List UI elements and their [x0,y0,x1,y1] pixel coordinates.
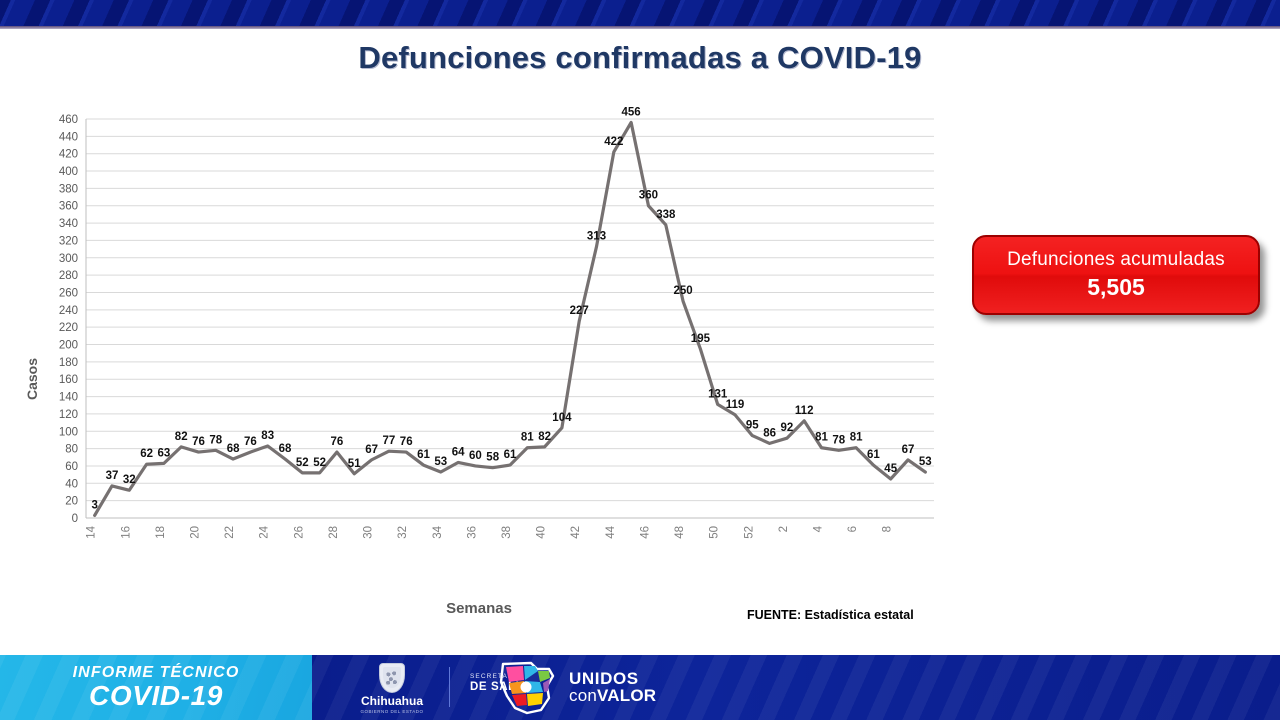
x-axis-tick-label: 48 [674,526,686,539]
chihuahua-logo-subtitle: GOBIERNO DEL ESTADO [360,709,423,714]
y-axis-tick-label: 40 [65,478,78,490]
data-point-label: 83 [261,430,274,442]
x-axis-tick-label: 4 [813,525,825,532]
footer-report-badge: INFORME TÉCNICO COVID-19 [0,655,312,720]
data-point-label: 60 [469,450,482,462]
data-point-label: 61 [867,449,880,461]
x-axis-tick-label: 16 [120,526,132,539]
data-point-label: 81 [850,432,863,444]
chihuahua-map-icon [497,660,559,716]
y-axis-tick-label: 140 [59,392,78,404]
data-point-label: 81 [815,432,828,444]
x-axis-tick-label: 8 [882,526,894,532]
data-point-label: 250 [674,285,693,297]
data-point-label: 195 [691,333,711,345]
y-axis-tick-label: 20 [65,496,78,508]
y-axis-tick-label: 0 [72,513,78,525]
y-axis-tick-label: 420 [59,149,78,161]
callout-label: Defunciones acumuladas [1007,249,1225,271]
y-axis-tick-label: 300 [59,253,78,265]
data-point-label: 81 [521,432,534,444]
x-axis-tick-label: 30 [363,526,375,539]
data-point-label: 227 [570,305,589,317]
data-point-label: 92 [781,422,794,434]
data-point-label: 51 [348,458,361,470]
x-axis-tick-label: 28 [328,526,340,539]
unidos-con: con [569,686,597,705]
data-point-label: 32 [123,474,136,486]
data-point-label: 112 [795,405,814,417]
y-axis-tick-label: 120 [59,409,78,421]
x-axis-tick-label: 20 [190,526,202,539]
data-point-label: 68 [279,443,292,455]
y-axis-tick-label: 380 [59,183,78,195]
x-axis-tick-label: 2 [778,526,790,532]
y-axis-tick-label: 340 [59,218,78,230]
data-point-label: 76 [400,436,413,448]
footer-report-line2: COVID-19 [89,681,223,710]
data-point-label: 456 [622,107,641,119]
data-point-label: 53 [919,456,932,468]
x-axis-tick-label: 38 [501,526,513,539]
x-axis-tick-label: 42 [570,526,582,539]
cumulative-deaths-callout: Defunciones acumuladas 5,505 [972,235,1260,315]
data-point-label: 95 [746,420,759,432]
y-axis-tick-label: 260 [59,287,78,299]
data-point-label: 53 [434,456,447,468]
y-axis-tick-label: 220 [59,322,78,334]
callout-value: 5,505 [1087,274,1145,301]
data-point-label: 37 [106,470,119,482]
data-point-label: 58 [486,452,499,464]
page-title: Defunciones confirmadas a COVID-19 [0,40,1280,76]
data-point-label: 422 [604,136,623,148]
data-point-label: 52 [313,457,326,469]
y-axis-tick-label: 460 [59,114,78,126]
x-axis-tick-label: 32 [397,526,409,539]
data-point-label: 338 [656,209,676,221]
data-point-label: 86 [763,427,776,439]
data-point-label: 360 [639,190,658,202]
x-axis-tick-label: 14 [86,525,98,538]
x-axis-tick-label: 52 [743,526,755,539]
y-axis-tick-label: 240 [59,305,78,317]
chihuahua-government-logo: Chihuahua GOBIERNO DEL ESTADO [354,660,430,716]
top-banner-stripes [0,0,1280,26]
data-point-label: 68 [227,443,240,455]
chihuahua-logo-name: Chihuahua [361,695,423,707]
y-axis-tick-label: 80 [65,444,78,456]
data-point-label: 76 [192,436,205,448]
data-point-label: 62 [140,448,153,460]
data-point-label: 76 [331,436,344,448]
data-point-label: 313 [587,231,606,243]
data-point-label: 64 [452,447,465,459]
data-point-label: 104 [552,412,572,424]
data-point-label: 78 [832,434,845,446]
unidos-text-block: UNIDOS conVALOR [569,670,656,705]
x-axis-tick-label: 36 [466,526,478,539]
data-point-label: 67 [365,444,378,456]
y-axis-tick-label: 200 [59,340,78,352]
x-axis-tick-label: 50 [709,526,721,539]
data-point-label: 61 [417,449,430,461]
x-axis-tick-label: 34 [432,525,444,538]
footer-logos-panel: Chihuahua GOBIERNO DEL ESTADO SECRETARÍA… [312,655,1280,720]
data-point-label: 52 [296,457,309,469]
y-axis-tick-label: 60 [65,461,78,473]
y-axis-tick-label: 160 [59,374,78,386]
x-axis-tick-label: 44 [605,525,617,538]
unidos-valor: VALOR [597,686,656,705]
data-point-label: 45 [884,463,897,475]
y-axis-tick-label: 360 [59,201,78,213]
y-axis-tick-label: 180 [59,357,78,369]
data-point-label: 82 [538,431,551,443]
x-axis-tick-label: 22 [224,526,236,539]
y-axis-tick-label: 100 [59,426,78,438]
data-point-label: 3 [91,499,97,511]
footer-bar: INFORME TÉCNICO COVID-19 Chihuahua GOBIE… [0,655,1280,720]
x-axis-tick-label: 46 [639,526,651,539]
data-point-label: 77 [383,435,396,447]
x-axis-tick-label: 6 [847,526,859,532]
unidos-line1: UNIDOS [569,670,656,687]
data-point-label: 63 [158,447,171,459]
data-point-label: 67 [902,444,915,456]
slide-root: Defunciones confirmadas a COVID-19 Casos… [0,0,1280,720]
unidos-line2: conVALOR [569,687,656,705]
data-point-label: 61 [504,449,517,461]
source-note: FUENTE: Estadística estatal [747,607,927,624]
data-point-label: 78 [209,434,222,446]
y-axis-tick-label: 440 [59,131,78,143]
x-axis-tick-label: 40 [536,526,548,539]
data-point-label: 76 [244,436,257,448]
x-axis-tick-label: 24 [259,525,271,538]
x-axis-tick-label: 18 [155,526,167,539]
plot-area: 0204060801001201401601802002202402602803… [14,105,944,580]
footer-report-line1: INFORME TÉCNICO [73,665,240,681]
data-point-label: 82 [175,431,188,443]
y-axis-tick-label: 280 [59,270,78,282]
y-axis-tick-label: 320 [59,235,78,247]
shield-icon [379,663,405,693]
line-chart-svg: 0204060801001201401601802002202402602803… [14,105,944,580]
x-axis-tick-label: 26 [293,526,305,539]
chart-container: Casos 0204060801001201401601802002202402… [14,105,944,635]
unidos-con-valor-logo: UNIDOS conVALOR [497,659,787,717]
data-point-label: 119 [726,399,745,411]
y-axis-tick-label: 400 [59,166,78,178]
logo-divider [449,667,450,707]
top-banner-edge [0,26,1280,29]
